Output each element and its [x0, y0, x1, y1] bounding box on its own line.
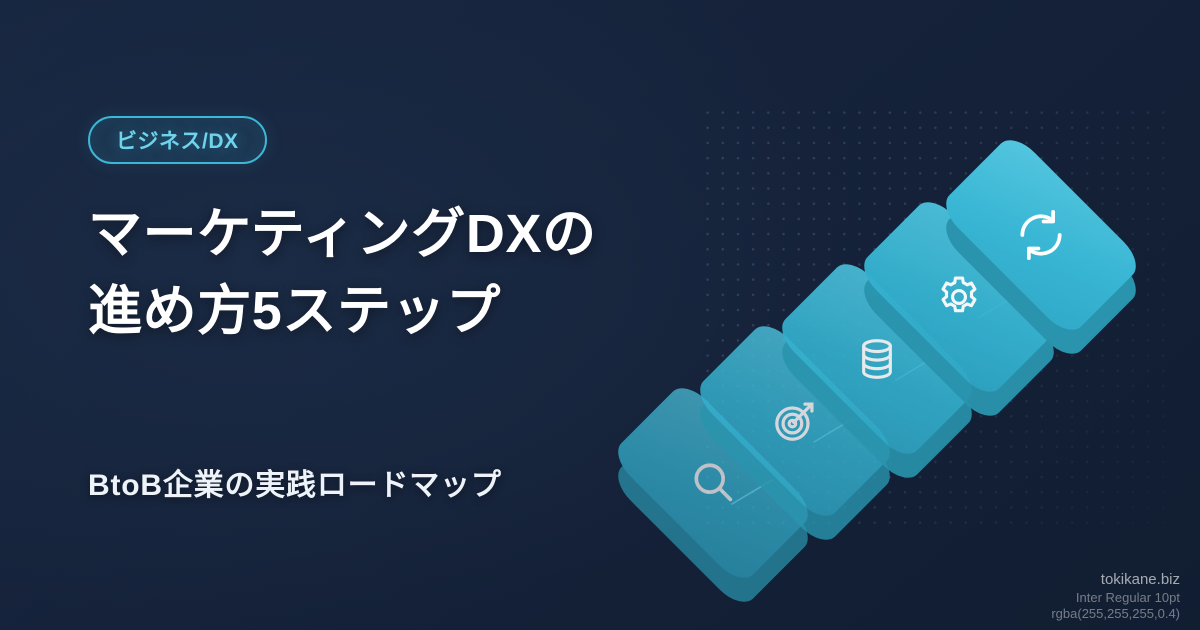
- footer-annotation: tokikane.biz Inter Regular 10pt rgba(255…: [1051, 571, 1180, 622]
- footer-site: tokikane.biz: [1051, 571, 1180, 590]
- og-image-canvas: ビジネス/DX マーケティングDXの 進め方5ステップ BtoB企業の実践ロード…: [0, 0, 1200, 630]
- step-tile-sync[interactable]: [948, 142, 1134, 328]
- isometric-step-stack: [620, 60, 1200, 580]
- footer-color-note: rgba(255,255,255,0.4): [1051, 606, 1180, 622]
- text-content-column: ビジネス/DX マーケティングDXの 進め方5ステップ BtoB企業の実践ロード…: [88, 0, 708, 630]
- category-badge[interactable]: ビジネス/DX: [88, 116, 267, 164]
- sync-icon: [948, 142, 1134, 328]
- page-subtitle: BtoB企業の実践ロードマップ: [88, 460, 502, 504]
- footer-font-note: Inter Regular 10pt: [1051, 590, 1180, 606]
